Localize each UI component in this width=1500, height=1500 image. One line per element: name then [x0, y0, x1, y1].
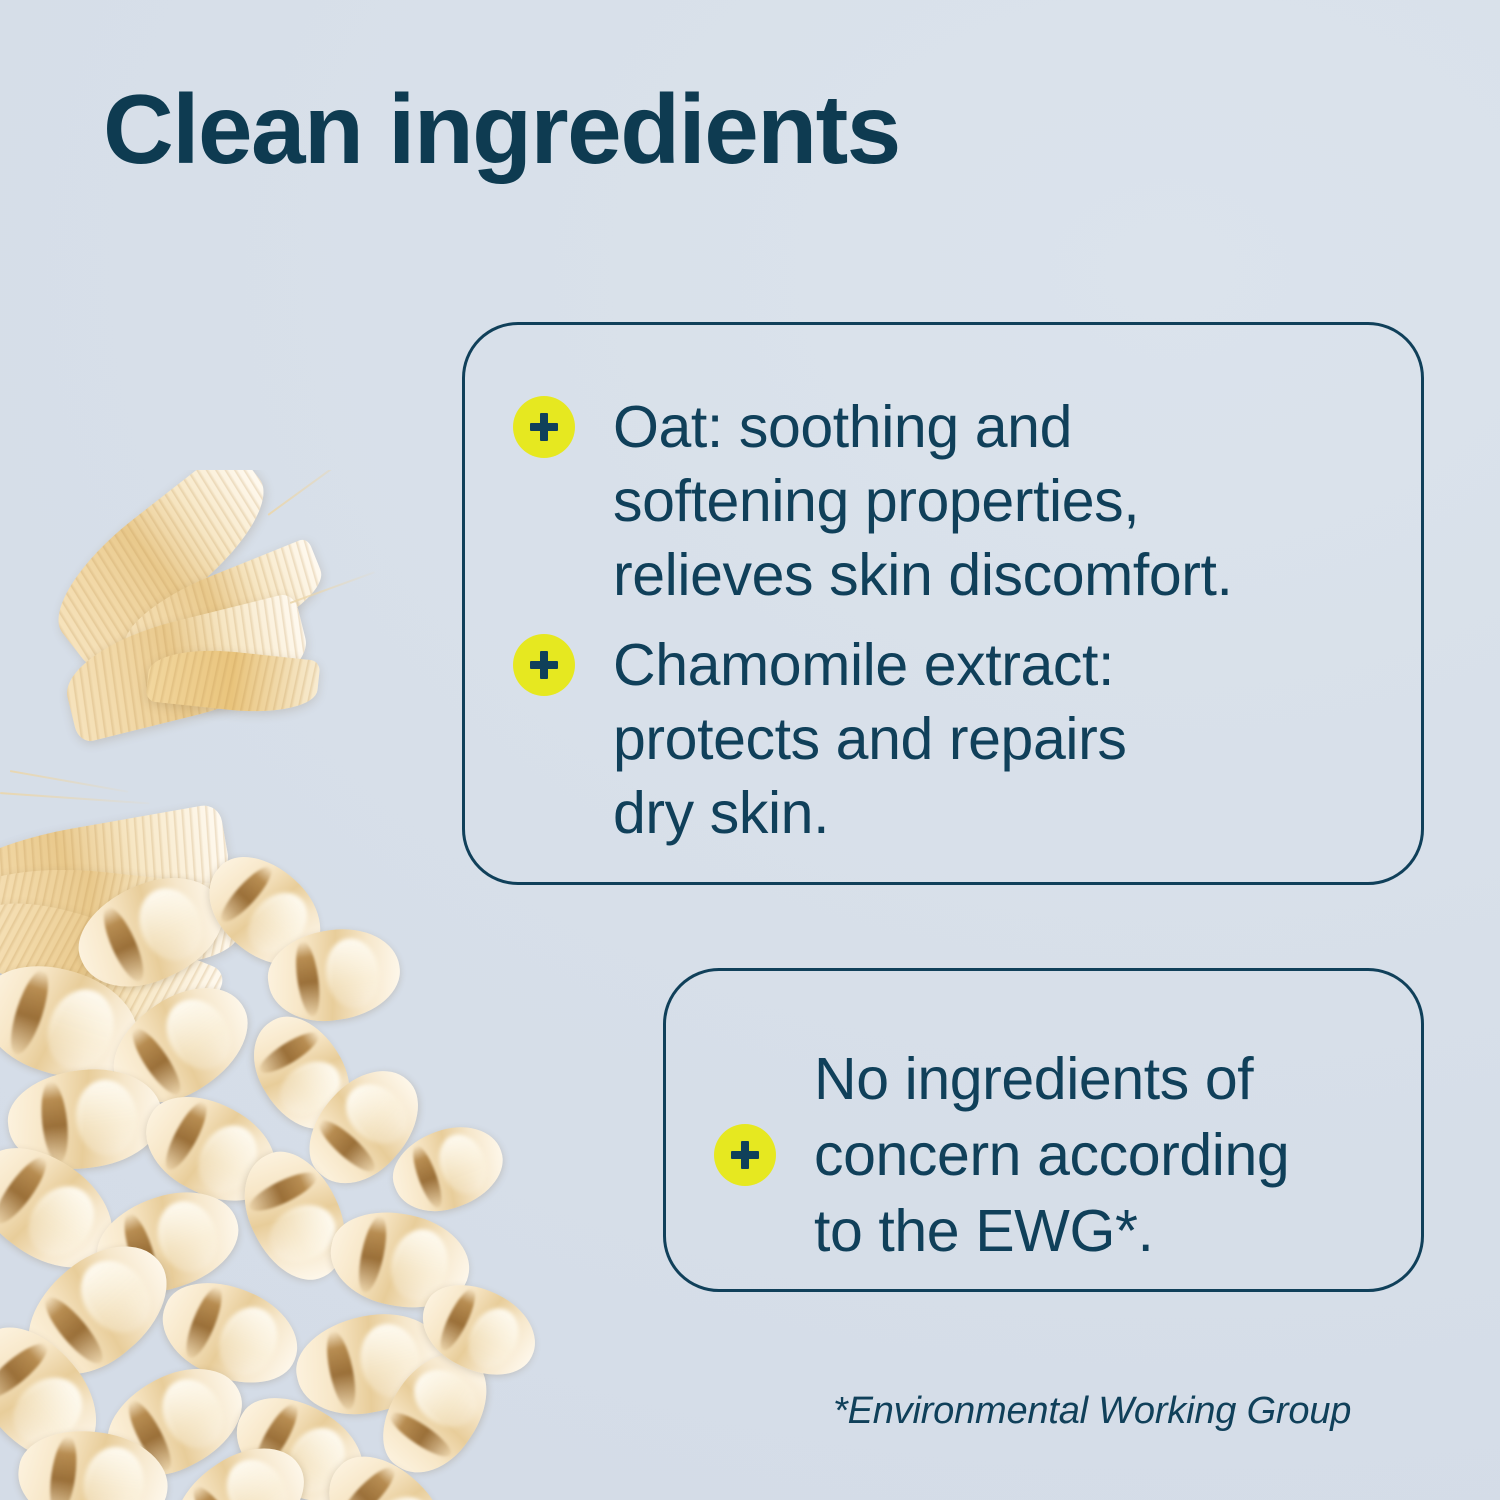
- plus-icon: [513, 634, 575, 696]
- promo-graphic: Clean ingredients Oat: soothing and soft…: [0, 0, 1500, 1500]
- page-title: Clean ingredients: [103, 80, 900, 178]
- ewg-claim-text: No ingredients of concern according to t…: [814, 1041, 1289, 1269]
- ingredient-oat-text: Oat: soothing and softening properties, …: [613, 390, 1233, 612]
- list-item: No ingredients of concern according to t…: [714, 1041, 1289, 1269]
- list-item: Oat: soothing and softening properties, …: [513, 390, 1233, 612]
- ingredient-chamomile-text: Chamomile extract: protects and repairs …: [613, 628, 1126, 850]
- plus-icon: [714, 1124, 776, 1186]
- list-item: Chamomile extract: protects and repairs …: [513, 628, 1126, 850]
- plus-icon: [513, 396, 575, 458]
- footnote: *Environmental Working Group: [833, 1388, 1351, 1434]
